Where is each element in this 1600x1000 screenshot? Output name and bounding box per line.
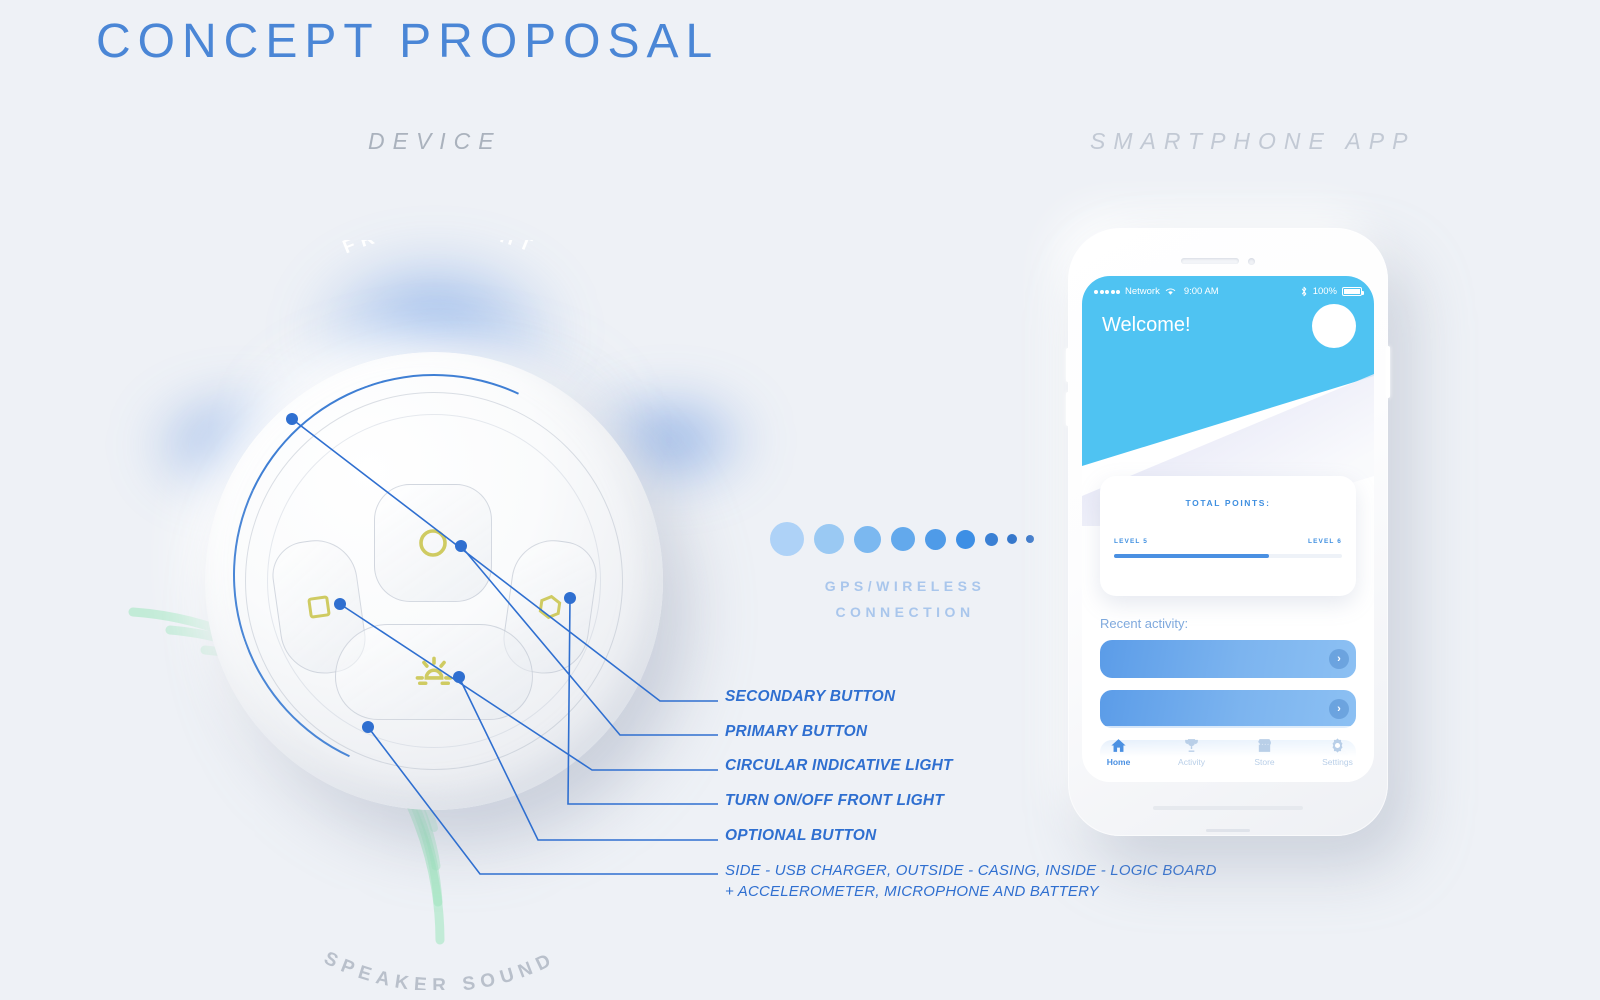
level-progress-track xyxy=(1114,554,1342,558)
home-indicator xyxy=(1153,806,1303,810)
greeting-title: Welcome! xyxy=(1102,314,1191,337)
activity-row[interactable]: › xyxy=(1100,690,1356,728)
gps-signal-dot xyxy=(1026,535,1034,543)
power-button[interactable] xyxy=(1386,346,1390,398)
gps-label-line2: CONNECTION xyxy=(760,599,1050,625)
signal-strength-icon xyxy=(1094,290,1120,294)
callout-internals-note: SIDE - USB CHARGER, OUTSIDE - CASING, IN… xyxy=(725,860,1217,902)
tab-settings[interactable]: Settings xyxy=(1309,737,1367,767)
wifi-icon xyxy=(1165,287,1176,296)
gear-icon xyxy=(1329,737,1346,754)
battery-percent-label: 100% xyxy=(1313,286,1337,297)
concept-proposal-poster: CONCEPT PROPOSAL DEVICE SMARTPHONE APP xyxy=(0,0,1600,1000)
tab-home[interactable]: Home xyxy=(1090,737,1148,767)
chevron-right-icon: › xyxy=(1329,699,1349,719)
tab-settings-label: Settings xyxy=(1322,757,1353,767)
store-icon xyxy=(1256,737,1273,754)
total-points-card: TOTAL POINTS: LEVEL 5 LEVEL 6 xyxy=(1100,476,1356,596)
leader-dot-optional xyxy=(453,671,465,683)
trophy-icon xyxy=(1183,737,1200,754)
callout-optional-button: OPTIONAL BUTTON xyxy=(725,827,876,845)
gps-label-line1: GPS/WIRELESS xyxy=(760,573,1050,599)
volume-up-button[interactable] xyxy=(1066,348,1070,382)
level-progress-fill xyxy=(1114,554,1269,558)
volume-down-button[interactable] xyxy=(1066,392,1070,426)
tab-activity[interactable]: Activity xyxy=(1163,737,1221,767)
callout-secondary-button: SECONDARY BUTTON xyxy=(725,688,895,706)
gps-signal-dot xyxy=(770,522,804,556)
callout-circular-light: CIRCULAR INDICATIVE LIGHT xyxy=(725,757,953,775)
clock-label: 9:00 AM xyxy=(1184,286,1219,297)
gps-signal-dot xyxy=(854,526,881,553)
leader-dot-internals xyxy=(362,721,374,733)
activity-row[interactable]: › xyxy=(1100,640,1356,678)
level-current-label: LEVEL 5 xyxy=(1114,538,1148,545)
tab-home-label: Home xyxy=(1107,757,1131,767)
gps-signal-dot xyxy=(891,527,915,551)
battery-icon xyxy=(1342,287,1362,296)
recent-activity-label: Recent activity: xyxy=(1100,616,1188,631)
tab-activity-label: Activity xyxy=(1178,757,1205,767)
gps-signal-dot xyxy=(1007,534,1017,544)
gps-label: GPS/WIRELESS CONNECTION xyxy=(760,573,1050,625)
gps-signal-dot xyxy=(956,530,975,549)
callout-internals-line1: SIDE - USB CHARGER, OUTSIDE - CASING, IN… xyxy=(725,860,1217,881)
phone-screen: Network 9:00 AM 100% Welcome! TOTAL POIN… xyxy=(1082,276,1374,782)
leader-dot-secondary xyxy=(286,413,298,425)
front-camera-icon xyxy=(1248,258,1255,265)
tab-store-label: Store xyxy=(1254,757,1274,767)
phone-bottom-detail xyxy=(1206,829,1250,832)
level-next-label: LEVEL 6 xyxy=(1308,538,1342,545)
callout-front-light-toggle: TURN ON/OFF FRONT LIGHT xyxy=(725,792,944,810)
callout-internals-line2: + ACCELEROMETER, MICROPHONE AND BATTERY xyxy=(725,881,1217,902)
gps-signal-dot xyxy=(985,533,998,546)
gps-signal-dot xyxy=(925,529,946,550)
status-bar: Network 9:00 AM 100% xyxy=(1082,286,1374,297)
carrier-label: Network xyxy=(1125,286,1160,297)
bottom-tab-bar: Home Activity Store xyxy=(1082,726,1374,782)
leader-dot-front-light xyxy=(564,592,576,604)
smartphone-mockup: Network 9:00 AM 100% Welcome! TOTAL POIN… xyxy=(1068,228,1388,836)
bluetooth-icon xyxy=(1300,286,1308,297)
callout-primary-button: PRIMARY BUTTON xyxy=(725,723,867,741)
tab-store[interactable]: Store xyxy=(1236,737,1294,767)
chevron-right-icon: › xyxy=(1329,649,1349,669)
leader-dot-primary xyxy=(455,540,467,552)
home-icon xyxy=(1110,737,1127,754)
gps-wireless-group: GPS/WIRELESS CONNECTION xyxy=(760,505,1060,625)
leader-dot-circular-light xyxy=(334,598,346,610)
earpiece-speaker xyxy=(1181,258,1239,264)
avatar[interactable] xyxy=(1312,304,1356,348)
total-points-title: TOTAL POINTS: xyxy=(1100,498,1356,508)
gps-signal-dot xyxy=(814,524,844,554)
